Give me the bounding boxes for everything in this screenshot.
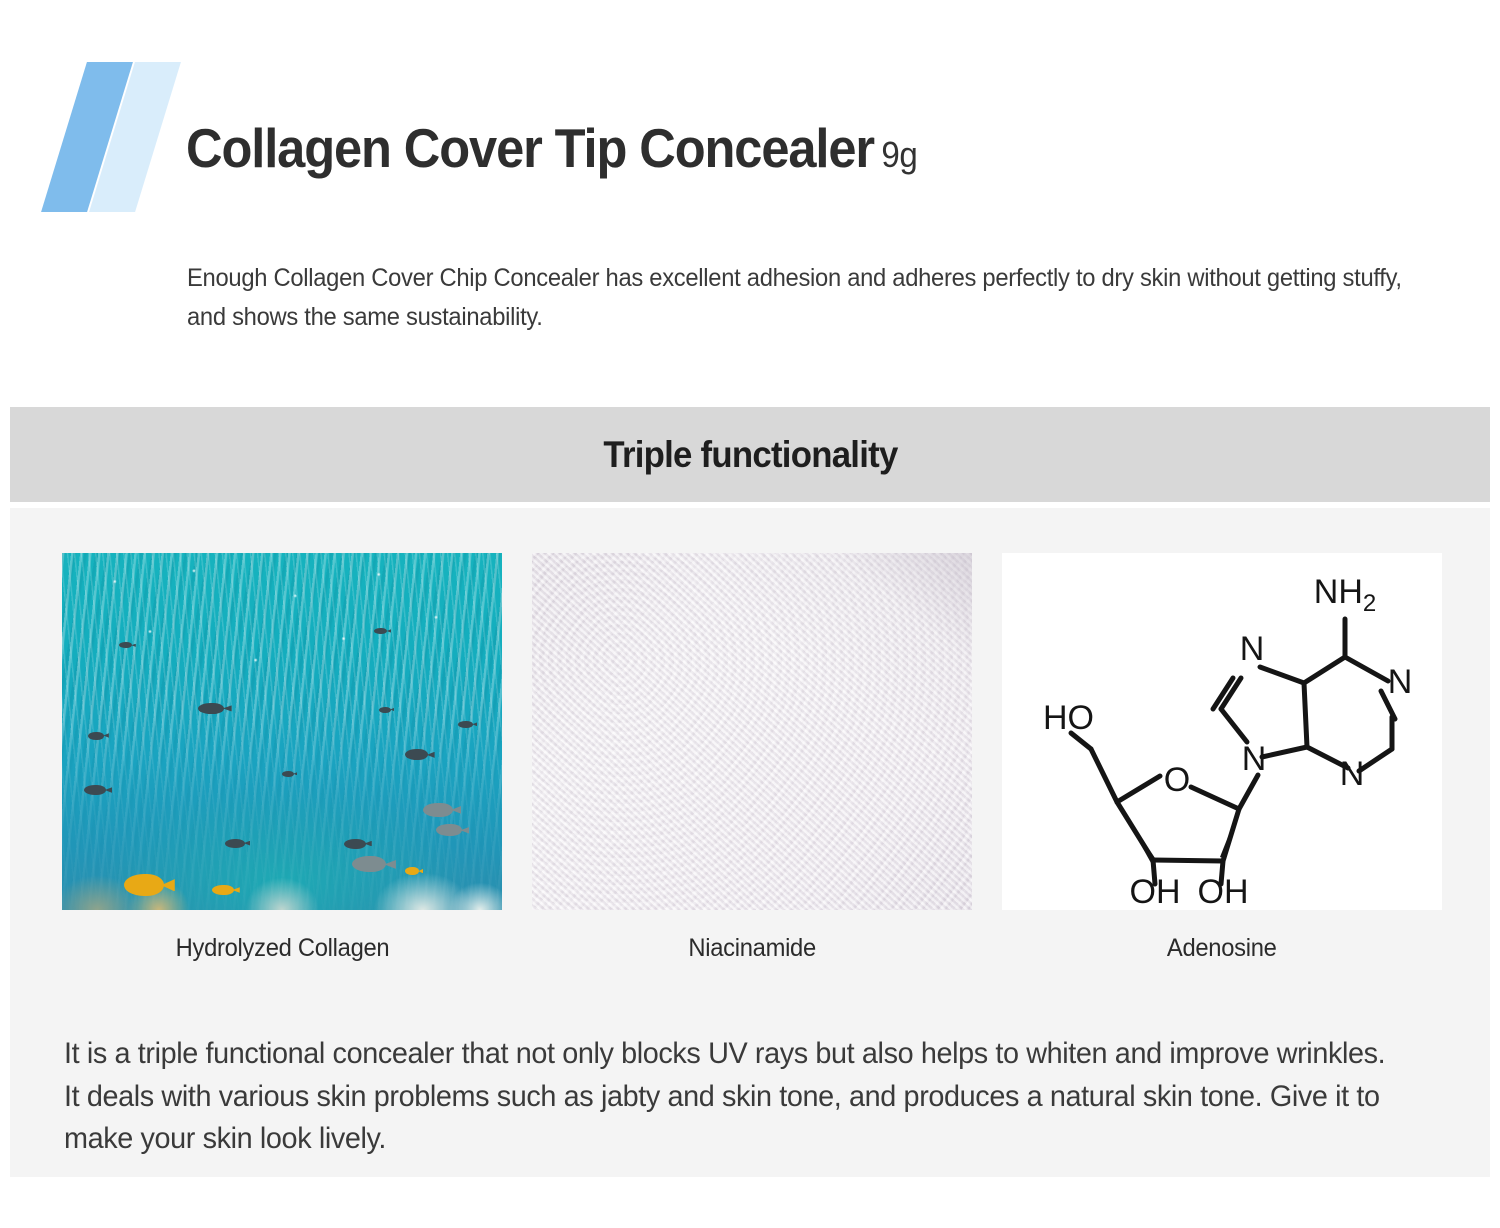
label-hydroxyl-3: OH — [1130, 873, 1181, 907]
ingredient-card-niacinamide: Niacinamide — [532, 553, 972, 963]
fish-icon — [379, 707, 391, 713]
label-hydroxymethyl: HO — [1043, 699, 1094, 737]
fish-icon — [198, 703, 224, 714]
fish-icon — [436, 824, 462, 836]
coral-reef-foreground — [62, 839, 502, 910]
product-size-label: 9g — [881, 134, 917, 175]
section-title: Triple functionality — [603, 434, 897, 476]
adenosine-molecule-svg: NH2 N N N N O HO OH OH — [1007, 557, 1437, 907]
ingredient-caption: Niacinamide — [688, 934, 816, 963]
page-title: Collagen Cover Tip Concealer9g — [186, 121, 917, 176]
fish-icon — [84, 785, 106, 795]
ingredient-caption: Hydrolyzed Collagen — [175, 934, 389, 963]
brand-slash-logo — [8, 62, 168, 212]
label-n-imidazole: N — [1240, 630, 1265, 668]
fish-icon — [88, 732, 104, 740]
label-n-pyrimidine-top: N — [1388, 663, 1413, 701]
powder-shadow-overlay — [532, 553, 972, 910]
fish-icon — [282, 771, 294, 777]
underwater-ocean-photo — [62, 553, 502, 910]
label-hydroxyl-2: OH — [1198, 873, 1249, 907]
white-powder-photo — [532, 553, 972, 910]
label-n-glycosidic: N — [1242, 740, 1267, 778]
ingredient-caption: Adenosine — [1167, 934, 1277, 963]
ingredient-row: Hydrolyzed Collagen Niacinamide — [62, 553, 1442, 963]
fish-icon — [212, 885, 234, 895]
fish-icon — [423, 803, 453, 817]
ingredient-card-hydrolyzed-collagen: Hydrolyzed Collagen — [62, 553, 502, 963]
fish-icon — [405, 867, 419, 875]
header-block: Collagen Cover Tip Concealer9g Enough Co… — [0, 0, 1500, 400]
ingredient-card-adenosine: NH2 N N N N O HO OH OH Adenosine — [1002, 553, 1442, 963]
label-amine: NH2 — [1314, 573, 1376, 617]
product-title-text: Collagen Cover Tip Concealer — [186, 117, 874, 179]
fish-icon — [124, 874, 164, 896]
adenosine-structure-diagram: NH2 N N N N O HO OH OH — [1002, 553, 1442, 910]
fish-icon — [225, 839, 245, 848]
section-header-band: Triple functionality — [10, 407, 1490, 502]
ingredients-panel: Hydrolyzed Collagen Niacinamide — [10, 508, 1490, 1177]
fish-icon — [458, 721, 473, 728]
fish-icon — [374, 628, 387, 634]
fish-icon — [344, 839, 366, 849]
label-n-pyrimidine-bottom: N — [1340, 755, 1365, 793]
closing-paragraph: It is a triple functional concealer that… — [64, 1033, 1398, 1161]
label-ring-oxygen: O — [1164, 761, 1190, 799]
product-description: Enough Collagen Cover Chip Concealer has… — [187, 259, 1422, 337]
